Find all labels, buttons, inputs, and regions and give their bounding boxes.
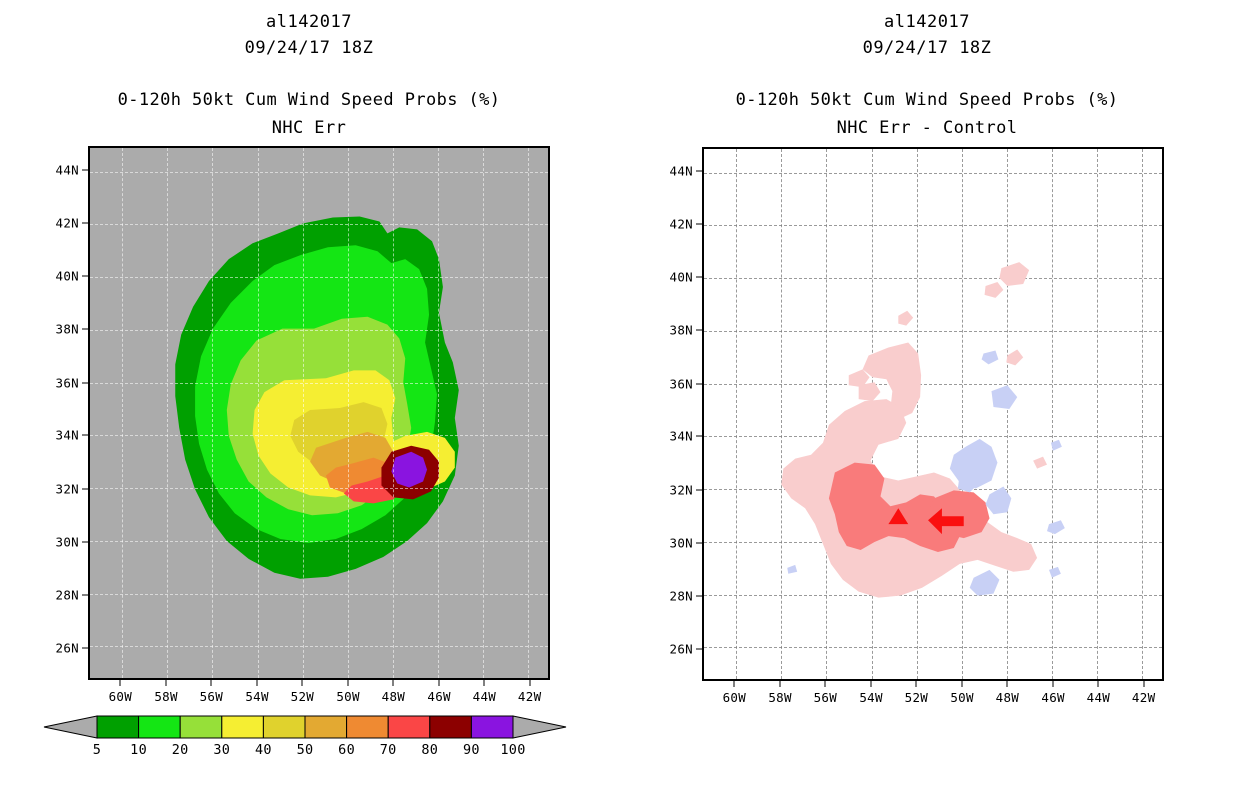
ytick-right-38N: 38N — [670, 323, 693, 338]
panel-right-title: 0-120h 50kt Cum Wind Speed Probs (%) — [618, 90, 1236, 110]
xtick-right-48W: 48W — [996, 690, 1019, 705]
panel-nhc-err-minus-control: al142017 09/24/17 18Z 0-120h 50kt Cum Wi… — [618, 0, 1236, 800]
xtick-left-48W: 48W — [382, 689, 405, 704]
colorbar-prob-label-40: 40 — [255, 742, 272, 758]
colorbar-prob-label-20: 20 — [172, 742, 189, 758]
panel-left-storm-id: al142017 — [0, 12, 618, 32]
difference-contour-field — [704, 149, 1162, 679]
ytick-left-32N: 32N — [56, 481, 79, 496]
colorbar-prob-label-70: 70 — [380, 742, 397, 758]
panel-right-subtitle: NHC Err - Control — [618, 118, 1236, 138]
xtick-left-46W: 46W — [427, 689, 450, 704]
ytick-left-42N: 42N — [56, 215, 79, 230]
xtick-left-50W: 50W — [336, 689, 359, 704]
panel-right-datetime: 09/24/17 18Z — [618, 38, 1236, 58]
ytick-right-36N: 36N — [670, 376, 693, 391]
colorbar-prob-label-50: 50 — [297, 742, 314, 758]
ytick-right-40N: 40N — [670, 270, 693, 285]
panel-right-storm-id: al142017 — [618, 12, 1236, 32]
xtick-left-52W: 52W — [291, 689, 314, 704]
ytick-left-38N: 38N — [56, 322, 79, 337]
probability-contour-field — [90, 148, 548, 678]
xtick-right-60W: 60W — [723, 690, 746, 705]
xtick-left-42W: 42W — [518, 689, 541, 704]
plot-frame-left — [88, 146, 550, 680]
colorbar-prob-label-30: 30 — [213, 742, 230, 758]
panel-nhc-err: al142017 09/24/17 18Z 0-120h 50kt Cum Wi… — [0, 0, 618, 800]
xtick-right-50W: 50W — [950, 690, 973, 705]
xtick-right-56W: 56W — [814, 690, 837, 705]
xtick-left-44W: 44W — [473, 689, 496, 704]
ytick-left-40N: 40N — [56, 269, 79, 284]
xtick-right-54W: 54W — [859, 690, 882, 705]
ytick-right-42N: 42N — [670, 216, 693, 231]
plot-area-right[interactable]: 44N 42N 40N 38N 36N 34N 32N 30N 28N 26N … — [702, 147, 1164, 681]
ytick-left-34N: 34N — [56, 428, 79, 443]
plot-area-left[interactable]: 44N 42N 40N 38N 36N 34N 32N 30N 28N 26N … — [88, 146, 550, 680]
xtick-right-52W: 52W — [905, 690, 928, 705]
colorbar-prob-label-100: 100 — [500, 742, 525, 758]
ytick-left-26N: 26N — [56, 640, 79, 655]
xtick-left-54W: 54W — [245, 689, 268, 704]
colorbar-prob-label-10: 10 — [130, 742, 147, 758]
ytick-right-32N: 32N — [670, 482, 693, 497]
colorbar-prob-label-60: 60 — [338, 742, 355, 758]
xtick-right-42W: 42W — [1132, 690, 1155, 705]
xtick-left-58W: 58W — [154, 689, 177, 704]
ytick-left-28N: 28N — [56, 588, 79, 603]
ytick-right-34N: 34N — [670, 429, 693, 444]
xtick-left-60W: 60W — [109, 689, 132, 704]
ytick-left-36N: 36N — [56, 375, 79, 390]
xtick-right-58W: 58W — [768, 690, 791, 705]
xtick-right-46W: 46W — [1041, 690, 1064, 705]
ytick-right-44N: 44N — [670, 164, 693, 179]
colorbar-prob-label-90: 90 — [463, 742, 480, 758]
ytick-right-30N: 30N — [670, 535, 693, 550]
xtick-right-44W: 44W — [1087, 690, 1110, 705]
plot-frame-right — [702, 147, 1164, 681]
ytick-left-44N: 44N — [56, 163, 79, 178]
panel-left-title: 0-120h 50kt Cum Wind Speed Probs (%) — [0, 90, 618, 110]
ytick-left-30N: 30N — [56, 534, 79, 549]
panel-left-subtitle: NHC Err — [0, 118, 618, 138]
colorbar-probability[interactable]: 5 10 20 30 40 50 60 70 80 90 100 — [40, 712, 570, 772]
colorbar-prob-label-80: 80 — [421, 742, 438, 758]
ytick-right-26N: 26N — [670, 641, 693, 656]
colorbar-prob-label-5: 5 — [93, 742, 101, 758]
panel-left-datetime: 09/24/17 18Z — [0, 38, 618, 58]
ytick-right-28N: 28N — [670, 589, 693, 604]
xtick-left-56W: 56W — [200, 689, 223, 704]
